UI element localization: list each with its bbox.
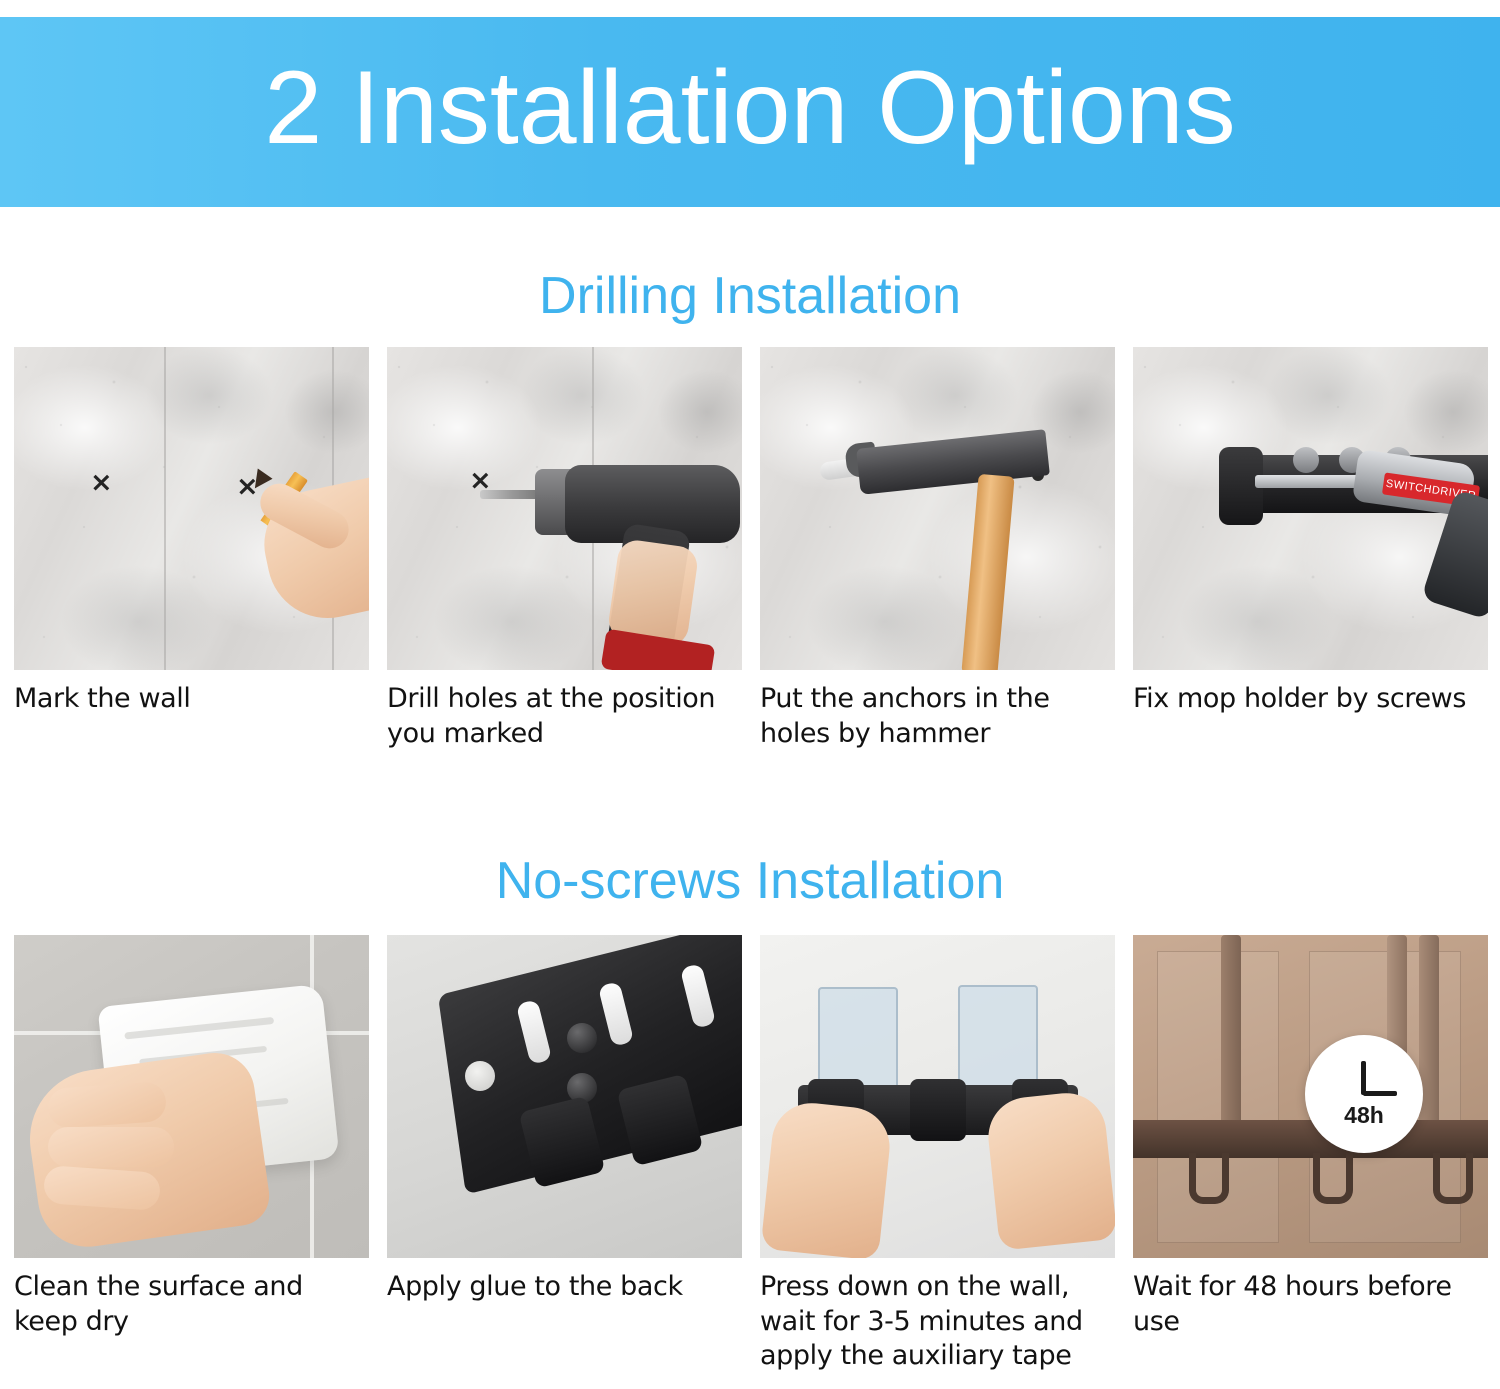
step-card-fix-screws: SWITCHDRIVER Fix mop holder by screws (1133, 347, 1488, 751)
step-card-mark-wall: × × Mark the wall (14, 347, 369, 751)
step-caption: Press down on the wall, wait for 3-5 min… (760, 1270, 1115, 1374)
step-caption: Mark the wall (14, 682, 369, 717)
clean-surface-photo (14, 935, 369, 1258)
mounting-hole (465, 1061, 495, 1091)
apply-glue-photo (387, 935, 742, 1258)
step-card-drill-holes: × × Drill holes at the position you mark… (387, 347, 742, 751)
step-caption: Apply glue to the back (387, 1270, 742, 1305)
holder-hook (1313, 1153, 1353, 1204)
anchors-hammer-photo (760, 347, 1115, 670)
clock-hand-hour (1363, 1091, 1397, 1096)
step-caption: Drill holes at the position you marked (387, 682, 742, 751)
finger-graphic (43, 1165, 161, 1211)
step-caption: Put the anchors in the holes by hammer (760, 682, 1115, 751)
header-banner: 2 Installation Options (0, 17, 1500, 207)
holder-hook (1189, 1153, 1229, 1204)
drill-bit-icon (480, 490, 542, 499)
section-title-drilling: Drilling Installation (0, 270, 1500, 322)
drilling-steps-grid: × × Mark the wall × × (14, 347, 1486, 751)
finger-graphic (48, 1127, 174, 1167)
mark-the-wall-photo: × × (14, 347, 369, 670)
mop-handle (1221, 935, 1241, 1135)
holder-roller (1293, 447, 1319, 473)
clock-hand-minute (1361, 1061, 1366, 1095)
step-caption: Fix mop holder by screws (1133, 682, 1488, 717)
step-card-press-wall: Press down on the wall, wait for 3-5 min… (760, 935, 1115, 1374)
step-card-clean-surface: Clean the surface and keep dry (14, 935, 369, 1374)
infographic-page: 2 Installation Options Drilling Installa… (0, 0, 1500, 1389)
finger-graphic (47, 1081, 168, 1129)
no-screws-steps-grid: Clean the surface and keep dry Apply glu… (14, 935, 1486, 1374)
step-caption: Clean the surface and keep dry (14, 1270, 369, 1339)
step-card-wait-48h: 48h Wait for 48 hours before use (1133, 935, 1488, 1374)
hand-graphic-right (984, 1089, 1115, 1251)
step-caption: Wait for 48 hours before use (1133, 1270, 1488, 1339)
fix-holder-screws-photo: SWITCHDRIVER (1133, 347, 1488, 670)
press-on-wall-photo (760, 935, 1115, 1258)
wait-48-hours-photo: 48h (1133, 935, 1488, 1258)
step-card-apply-glue: Apply glue to the back (387, 935, 742, 1374)
drill-holes-photo: × × (387, 347, 742, 670)
page-title: 2 Installation Options (264, 56, 1235, 168)
step-card-anchors: Put the anchors in the holes by hammer (760, 347, 1115, 751)
clock-badge: 48h (1305, 1035, 1423, 1153)
wall-seam-line (164, 347, 166, 670)
wall-speckle-overlay (760, 347, 1115, 670)
clock-badge-label: 48h (1305, 1102, 1423, 1129)
rack-clip (910, 1079, 966, 1141)
towel-fold (124, 1017, 274, 1040)
hand-graphic-left (760, 1099, 893, 1258)
x-mark-left: × (90, 469, 113, 496)
section-title-no-screws: No-screws Installation (0, 855, 1500, 907)
holder-hook (1433, 1153, 1473, 1204)
screwdriver-shaft (1255, 475, 1363, 488)
screw-head (567, 1023, 597, 1053)
